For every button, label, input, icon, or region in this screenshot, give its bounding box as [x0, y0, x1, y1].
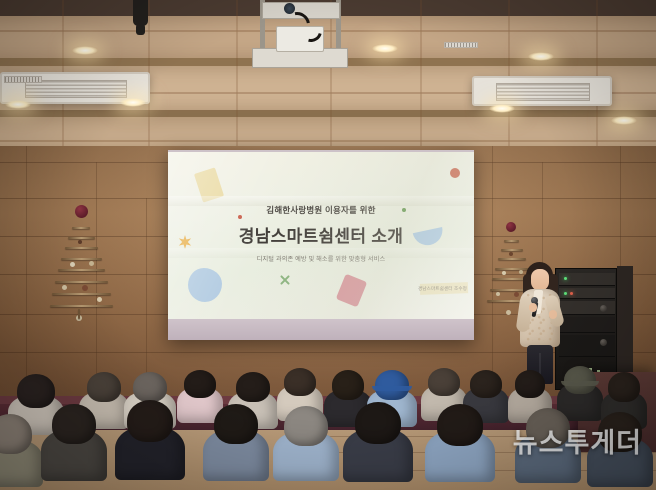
audience-head: [608, 372, 640, 402]
audience-head: [87, 372, 121, 402]
audience-head: [355, 402, 401, 444]
audience-head: [515, 370, 545, 398]
audience-person: [41, 404, 107, 490]
audience: [0, 0, 656, 490]
audience-head: [284, 406, 328, 446]
screenshot-scene: 김해한사랑병원 이용자를 위한 경남스마트쉼센터 소개 디지털 과의존 예방 및…: [0, 0, 656, 490]
audience-head: [437, 404, 483, 446]
audience-head: [214, 404, 258, 444]
audience-person: [425, 404, 495, 490]
audience-person: [343, 402, 413, 490]
audience-head: [0, 414, 32, 454]
audience-head: [127, 400, 173, 442]
audience-cap-brim: [372, 386, 412, 391]
audience-person: [0, 414, 43, 490]
audience-head: [332, 370, 364, 400]
audience-cap-brim: [561, 381, 599, 386]
audience-head: [184, 370, 216, 398]
audience-head: [133, 372, 167, 402]
audience-head: [52, 404, 96, 444]
audience-person: [273, 406, 339, 490]
audience-head: [236, 372, 270, 402]
audience-head: [470, 370, 502, 398]
audience-head: [284, 368, 316, 396]
audience-person: [203, 404, 269, 490]
audience-head: [428, 368, 460, 396]
audience-head: [17, 374, 55, 408]
news-watermark: 뉴스투게더: [513, 421, 642, 460]
audience-person: [115, 400, 185, 490]
